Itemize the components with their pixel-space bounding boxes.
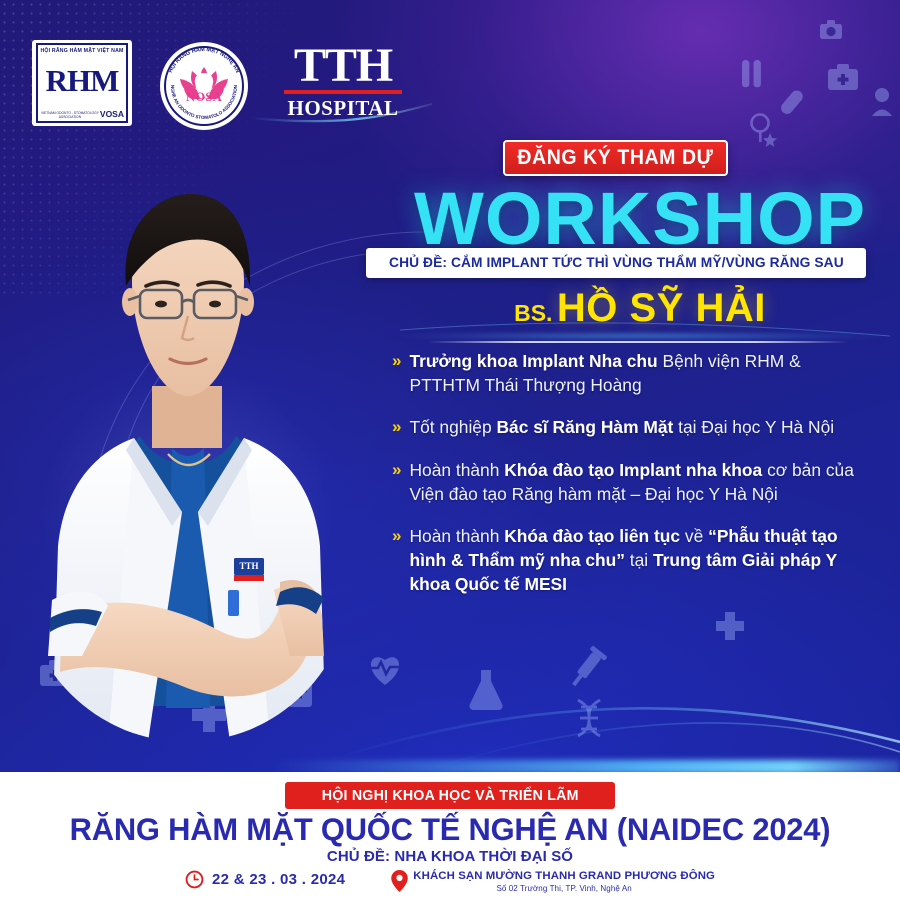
register-badge-label: ĐĂNG KÝ THAM DỰ	[518, 146, 714, 170]
clock-icon	[185, 870, 204, 889]
topic-bar: CHỦ ĐỀ: CẮM IMPLANT TỨC THÌ VÙNG THẨM MỸ…	[366, 248, 866, 278]
conference-info-row: 22 & 23 . 03 . 2024 KHÁCH SẠN MƯỜNG THAN…	[0, 870, 900, 893]
speaker-portrait-image: TTH	[22, 186, 352, 742]
venue-name: KHÁCH SẠN MƯỜNG THANH GRAND PHƯƠNG ĐÔNG	[413, 870, 715, 882]
poster-stage: TTH	[0, 0, 900, 772]
venue-address: Số 02 Trường Thi, TP. Vinh, Nghệ An	[413, 884, 715, 893]
credentials-list: »Trưởng khoa Implant Nha chu Bệnh viện R…	[392, 350, 867, 615]
credential-text: Hoàn thành Khóa đào tạo liên tục về “Phẫ…	[409, 525, 867, 596]
bullet-marker-icon: »	[392, 459, 401, 506]
divider-glow	[390, 332, 890, 340]
tth-hospital-word: HOSPITAL	[278, 96, 408, 121]
workshop-title: WORKSHOP	[400, 182, 880, 256]
conference-badge-label: HỘI NGHỊ KHOA HỌC VÀ TRIỂN LÃM	[322, 787, 579, 804]
bullet-marker-icon: »	[392, 525, 401, 596]
rhm-top-text: HỘI RĂNG HÀM MẶT VIỆT NAM	[40, 48, 123, 54]
rhm-sub-line-2: ASSOCIATION	[40, 115, 100, 119]
logo-rhm-vosa: HỘI RĂNG HÀM MẶT VIỆT NAM RHM VIETNAM OD…	[32, 40, 132, 126]
bottom-light-glow	[0, 760, 900, 772]
rhm-vosa-text: VOSA	[100, 109, 124, 119]
tth-letters: TTH	[278, 42, 408, 89]
location-pin-icon	[391, 870, 408, 892]
credential-text: Tốt nghiệp Bác sĩ Răng Hàm Mặt tại Đại h…	[409, 416, 834, 440]
speaker-portrait: TTH	[22, 186, 352, 742]
credential-item: »Hoàn thành Khóa đào tạo liên tục về “Ph…	[392, 525, 867, 596]
flask-icon	[469, 670, 502, 710]
event-footer: HỘI NGHỊ KHOA HỌC VÀ TRIỂN LÃM RĂNG HÀM …	[0, 772, 900, 900]
logo-tth-hospital: TTH HOSPITAL	[278, 42, 408, 122]
syringe-icon	[566, 645, 607, 691]
event-date: 22 & 23 . 03 . 2024	[212, 871, 345, 888]
bullet-marker-icon: »	[392, 416, 401, 440]
heartbeat-icon	[370, 657, 400, 685]
credential-item: »Trưởng khoa Implant Nha chu Bệnh viện R…	[392, 350, 867, 397]
conference-subtitle: CHỦ ĐỀ: NHA KHOA THỜI ĐẠI SỐ	[0, 848, 900, 865]
speaker-title-prefix: BS.	[514, 300, 552, 326]
svg-text:TTH: TTH	[239, 561, 258, 571]
credential-item: »Tốt nghiệp Bác sĩ Răng Hàm Mặt tại Đại …	[392, 416, 867, 440]
rhm-initials: RHM	[46, 67, 119, 96]
logo-nosa: HỘI RĂNG HÀM MẶT NGHỆ AN NGHE AN ODONTO …	[160, 42, 248, 130]
credential-item: »Hoàn thành Khóa đào tạo Implant nha kho…	[392, 459, 867, 506]
nosa-name: NOSA	[160, 90, 248, 105]
speaker-name-block: BS. HỒ SỸ HẢI	[400, 286, 880, 331]
conference-title: RĂNG HÀM MẶT QUỐC TẾ NGHỆ AN (NAIDEC 202…	[9, 811, 891, 848]
speaker-full-name: HỒ SỸ HẢI	[557, 286, 766, 330]
register-badge[interactable]: ĐĂNG KÝ THAM DỰ	[503, 140, 728, 176]
conference-badge: HỘI NGHỊ KHOA HỌC VÀ TRIỂN LÃM	[285, 782, 615, 809]
topic-bar-label: CHỦ ĐỀ: CẮM IMPLANT TỨC THÌ VÙNG THẨM MỸ…	[389, 255, 844, 271]
event-poster: TTH	[0, 0, 900, 900]
divider-line	[428, 341, 848, 343]
event-date-block: 22 & 23 . 03 . 2024	[185, 870, 345, 889]
credential-text: Trưởng khoa Implant Nha chu Bệnh viện RH…	[409, 350, 867, 397]
medical-cross-icon	[716, 612, 744, 640]
dna-icon	[578, 700, 600, 736]
event-venue-block: KHÁCH SẠN MƯỜNG THANH GRAND PHƯƠNG ĐÔNG …	[391, 870, 715, 893]
credential-text: Hoàn thành Khóa đào tạo Implant nha khoa…	[409, 459, 867, 506]
logo-row: HỘI RĂNG HÀM MẶT VIỆT NAM RHM VIETNAM OD…	[0, 0, 900, 150]
bullet-marker-icon: »	[392, 350, 401, 397]
